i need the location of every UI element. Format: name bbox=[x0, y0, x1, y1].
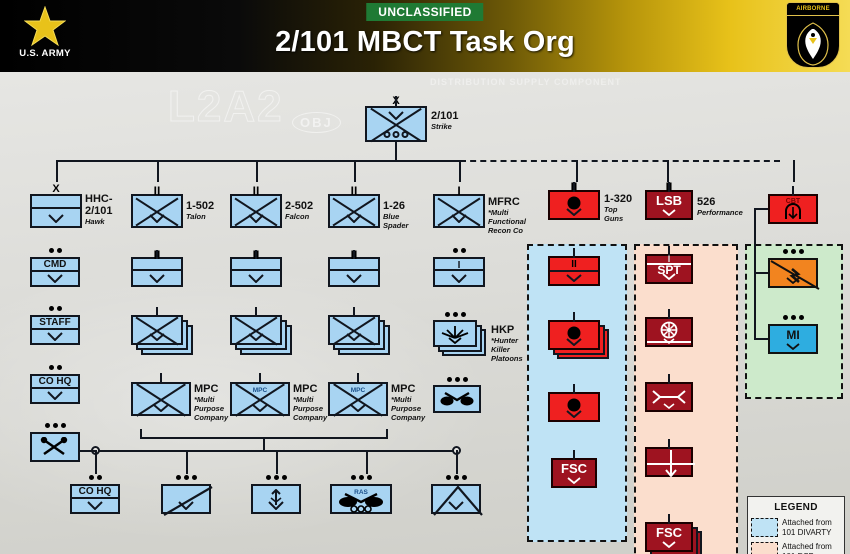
unit-mpc-1[interactable]: MPC *Multi Purpose Company bbox=[131, 382, 191, 416]
legend-item-dsb: Attached from 101 DSB bbox=[751, 542, 844, 554]
unit-rifle-companies-1-502[interactable] bbox=[131, 315, 183, 345]
attachment-hook bbox=[754, 208, 768, 210]
unit-nickname: Performance bbox=[697, 208, 743, 217]
hq-bar bbox=[330, 269, 378, 271]
unit-nickname: Blue Spader bbox=[383, 212, 408, 230]
unit-hhc-2-502[interactable]: II bbox=[230, 257, 282, 287]
unit-rifle-companies-2-502[interactable] bbox=[230, 315, 282, 345]
stem bbox=[353, 250, 355, 259]
unit-name: 1-26 bbox=[383, 200, 408, 212]
unit-name: 526 bbox=[697, 196, 743, 208]
chevron-icon bbox=[346, 214, 362, 223]
slide-header: U.S. ARMY UNCLASSIFIED 2/101 MBCT Task O… bbox=[0, 0, 850, 72]
legend-text: Attached from 101 DSB bbox=[782, 542, 832, 554]
unit-name: 1-320 bbox=[604, 193, 632, 205]
echelon-mark: II bbox=[351, 187, 358, 196]
cbt-engineer-symbol[interactable]: CBT bbox=[768, 194, 818, 224]
drop-line bbox=[95, 450, 97, 474]
stem bbox=[353, 307, 355, 317]
air-assault-dots bbox=[384, 131, 409, 138]
stem bbox=[156, 250, 158, 259]
unit-label-text: FSC bbox=[647, 526, 691, 539]
legend-item-divarty: Attached from 101 DIVARTY bbox=[751, 518, 844, 537]
unit-nickname: Strike bbox=[431, 122, 459, 131]
chevron-icon bbox=[47, 332, 63, 341]
echelon-platoon-dots bbox=[32, 365, 78, 370]
mfrc-symbol[interactable]: I bbox=[433, 194, 485, 228]
unit-label-text: CO HQ bbox=[72, 485, 118, 498]
mpc-symbol[interactable] bbox=[131, 382, 191, 416]
infantry-battalion-symbol[interactable]: II bbox=[328, 194, 380, 228]
co-hq-symbol[interactable]: CO HQ bbox=[70, 484, 120, 514]
chevron-icon bbox=[153, 404, 169, 412]
drop-line bbox=[276, 450, 278, 474]
attachment-bus-dashed bbox=[460, 160, 780, 162]
infantry-company-symbol[interactable] bbox=[131, 315, 183, 345]
unit-spt-company[interactable]: I SPT bbox=[645, 254, 693, 284]
stem bbox=[395, 96, 397, 106]
chevron-icon bbox=[350, 404, 366, 412]
chevron-icon bbox=[149, 274, 165, 283]
unit-divarty-battery[interactable] bbox=[548, 392, 600, 422]
unit-bottom-ras[interactable]: RAS bbox=[330, 484, 392, 514]
transportation-symbol[interactable] bbox=[645, 317, 693, 347]
unit-name: MFRC bbox=[488, 196, 530, 208]
chevron-icon bbox=[87, 501, 103, 510]
stem bbox=[573, 182, 575, 192]
unit-label: HHC- 2/101 Hawk bbox=[85, 193, 113, 226]
unit-nickname: Hawk bbox=[85, 217, 113, 226]
stem bbox=[255, 250, 257, 259]
stem bbox=[573, 312, 575, 322]
airborne-tab: AIRBORNE bbox=[787, 3, 839, 16]
unit-name-line1: HHC- bbox=[85, 193, 113, 205]
cmd-symbol[interactable]: CMD bbox=[30, 257, 80, 287]
unit-hhc-1-26[interactable]: II bbox=[328, 257, 380, 287]
chevron-icon bbox=[566, 410, 582, 418]
unit-label: 526 Performance bbox=[697, 196, 743, 217]
unit-mfrc-hq[interactable]: I bbox=[433, 257, 485, 287]
chevron-icon bbox=[47, 274, 63, 283]
watermark-l2a2: L2A2 bbox=[168, 82, 284, 132]
unit-nickname: Top Guns bbox=[604, 205, 632, 223]
classification-banner: UNCLASSIFIED bbox=[366, 3, 483, 21]
unit-hhc-2-101[interactable]: X HHC- 2/101 Hawk bbox=[30, 194, 82, 228]
hq-bar bbox=[232, 269, 280, 271]
echelon-company-dots bbox=[770, 315, 816, 320]
unit-bottom-co-hq[interactable]: CO HQ bbox=[70, 484, 120, 514]
drop-line bbox=[157, 160, 159, 182]
unit-nickname: *Multi Functional Recon Co bbox=[488, 208, 530, 235]
chevron-icon bbox=[566, 274, 582, 282]
drop-line bbox=[459, 160, 461, 182]
echelon-company-dots bbox=[435, 312, 475, 317]
div-attachment-rail bbox=[754, 208, 756, 340]
unit-nickname: *Multi Purpose Company bbox=[391, 395, 435, 422]
ras-symbol[interactable]: RAS bbox=[330, 484, 392, 514]
unit-transportation-company[interactable] bbox=[645, 317, 693, 347]
drop-line bbox=[354, 160, 356, 182]
mi-symbol[interactable]: MI bbox=[768, 324, 818, 354]
stem bbox=[573, 384, 575, 394]
infantry-battalion-symbol[interactable]: II bbox=[230, 194, 282, 228]
battalion-bus bbox=[56, 160, 460, 162]
mpc-symbol[interactable]: MPC bbox=[230, 382, 290, 416]
echelon-company-dots bbox=[332, 475, 390, 480]
hq-bar bbox=[550, 270, 598, 272]
echelon-mark: II bbox=[253, 187, 260, 196]
stem bbox=[255, 307, 257, 317]
echelon-company-dots bbox=[163, 475, 209, 480]
staff-symbol[interactable]: STAFF bbox=[30, 315, 80, 345]
unit-name: 1-502 bbox=[186, 200, 214, 212]
chevron-icon bbox=[662, 273, 676, 280]
unit-label-text: STAFF bbox=[32, 316, 78, 329]
chevron-icon bbox=[252, 404, 268, 412]
echelon-platoon-dots bbox=[32, 306, 78, 311]
artillery-battery-symbol[interactable] bbox=[548, 320, 600, 350]
uav-symbol[interactable] bbox=[433, 385, 481, 413]
stem bbox=[668, 309, 670, 319]
unit-label: 2/101 Strike bbox=[431, 110, 459, 131]
chevron-icon bbox=[248, 214, 264, 223]
unit-co-hq-left[interactable]: CO HQ bbox=[30, 374, 80, 404]
unit-label: 1-320 Top Guns bbox=[604, 193, 632, 223]
signal-company-symbol[interactable] bbox=[768, 258, 818, 288]
101st-airborne-patch: AIRBORNE bbox=[786, 2, 840, 68]
unit-name-line2: 2/101 bbox=[85, 205, 113, 217]
chevron-icon bbox=[662, 541, 676, 548]
attachment-hook bbox=[754, 272, 768, 274]
legend-line2: 101 DIVARTY bbox=[782, 528, 832, 538]
hq-bar bbox=[133, 269, 181, 271]
artillery-battalion-symbol[interactable]: II bbox=[548, 190, 600, 220]
mpc-inner-label: MPC bbox=[232, 384, 288, 397]
unit-1-26[interactable]: II 1-26 Blue Spader bbox=[328, 194, 380, 228]
unit-nickname: Talon bbox=[186, 212, 214, 221]
signal-lightning-icon bbox=[770, 260, 820, 290]
mpc-inner-label: MPC bbox=[330, 384, 386, 397]
hq-platoon-symbol[interactable]: I bbox=[433, 257, 485, 287]
unit-hkp[interactable]: HKP *Hunter Killer Platoons bbox=[433, 320, 477, 347]
drop-line bbox=[186, 450, 188, 474]
chevron-icon bbox=[662, 209, 676, 216]
unit-name: MPC bbox=[391, 383, 435, 395]
unit-1-320-top-guns[interactable]: II 1-320 Top Guns bbox=[548, 190, 600, 220]
diagram-canvas: L2A2 OBJ DISTRIBUTION SUPPLY COMPONENT X bbox=[0, 72, 850, 554]
legend-title: LEGEND bbox=[748, 502, 844, 513]
chevron-icon bbox=[248, 274, 264, 283]
legend-line1: Attached from bbox=[782, 542, 832, 552]
hunter-killer-icon bbox=[438, 324, 472, 344]
unit-name: 2-502 bbox=[285, 200, 313, 212]
echelon-company-dots bbox=[770, 249, 816, 254]
page-title: 2/101 MBCT Task Org bbox=[0, 26, 850, 59]
unit-hhc-1-502[interactable]: II bbox=[131, 257, 183, 287]
signal-symbol[interactable] bbox=[30, 432, 80, 462]
chevron-icon bbox=[47, 391, 63, 400]
chevron-icon bbox=[149, 333, 165, 341]
stem bbox=[156, 307, 158, 317]
chevron-icon bbox=[451, 274, 467, 283]
hhc-symbol[interactable]: II bbox=[131, 257, 183, 287]
stem bbox=[668, 439, 670, 449]
unit-cmd[interactable]: CMD bbox=[30, 257, 80, 287]
echelon-mark: II bbox=[571, 260, 577, 269]
unit-mfrc[interactable]: I MFRC *Multi Functional Recon Co bbox=[433, 194, 485, 228]
engineer-symbol[interactable] bbox=[431, 484, 481, 514]
unit-bottom-air-defense[interactable] bbox=[251, 484, 301, 514]
legend-line1: Attached from bbox=[782, 518, 832, 528]
chevron-icon bbox=[448, 501, 464, 510]
air-defense-symbol[interactable] bbox=[251, 484, 301, 514]
echelon-platoon-dots bbox=[435, 248, 483, 253]
drop-line bbox=[56, 160, 58, 182]
unit-signal-company[interactable] bbox=[30, 432, 80, 462]
unit-maintenance-company[interactable] bbox=[645, 382, 693, 412]
attachment-hook bbox=[754, 338, 768, 340]
signal-icon bbox=[40, 437, 70, 457]
fsc-symbol[interactable]: FSC bbox=[551, 458, 597, 488]
unit-label-text: CO HQ bbox=[32, 375, 78, 388]
chevron-icon bbox=[663, 403, 675, 409]
chevron-icon bbox=[566, 338, 582, 346]
unit-label-text: CMD bbox=[32, 258, 78, 271]
unit-divarty-fsc[interactable]: FSC bbox=[551, 458, 597, 488]
stem bbox=[357, 373, 359, 384]
watermark-background: DISTRIBUTION SUPPLY COMPONENT bbox=[430, 77, 622, 87]
infantry-company-symbol[interactable] bbox=[328, 315, 380, 345]
echelon-mark: I bbox=[458, 261, 461, 270]
chevron-icon bbox=[567, 477, 581, 484]
echelon-company-dots bbox=[435, 377, 479, 382]
unit-div-cbt-engineer[interactable]: CBT bbox=[768, 194, 818, 224]
unit-dsb-fsc[interactable]: FSC bbox=[645, 522, 693, 552]
hhc-symbol[interactable]: II bbox=[230, 257, 282, 287]
stem bbox=[573, 450, 575, 460]
unit-staff[interactable]: STAFF bbox=[30, 315, 80, 345]
trunk-line bbox=[395, 142, 397, 160]
unit-div-signal[interactable] bbox=[768, 258, 818, 288]
echelon-company-dots bbox=[253, 475, 299, 480]
unit-divarty-firing-batteries[interactable] bbox=[548, 320, 600, 350]
legend-swatch-dsb bbox=[751, 542, 778, 554]
chevron-icon bbox=[268, 501, 284, 510]
legend-text: Attached from 101 DIVARTY bbox=[782, 518, 832, 537]
unit-nickname: Falcon bbox=[285, 212, 313, 221]
unit-lsb-526[interactable]: II LSB 526 Performance bbox=[645, 190, 693, 220]
stem bbox=[160, 373, 162, 384]
unit-nickname: *Hunter Killer Platoons bbox=[491, 336, 537, 363]
mpc-grouping-bracket bbox=[140, 429, 388, 439]
legend-swatch-divarty bbox=[751, 518, 778, 537]
medical-icon bbox=[647, 449, 695, 479]
chevron-icon bbox=[149, 214, 165, 223]
chevron-icon bbox=[178, 501, 194, 510]
unit-divarty-hhb[interactable]: II bbox=[548, 256, 600, 286]
echelon-mark: X bbox=[52, 184, 59, 195]
unit-label: 1-26 Blue Spader bbox=[383, 200, 408, 230]
chevron-icon bbox=[451, 214, 467, 223]
spt-symbol[interactable]: I SPT bbox=[645, 254, 693, 284]
hhb-symbol[interactable]: II bbox=[548, 256, 600, 286]
screaming-eagle-icon bbox=[790, 19, 836, 67]
unit-bottom-recon[interactable] bbox=[161, 484, 211, 514]
unit-mpc-2[interactable]: MPC MPC *Multi Purpose Company bbox=[230, 382, 290, 416]
chevron-icon bbox=[388, 111, 404, 120]
hhc-symbol[interactable]: II bbox=[328, 257, 380, 287]
maintenance-symbol[interactable] bbox=[645, 382, 693, 412]
chevron-icon bbox=[566, 208, 582, 216]
fsc-symbol[interactable]: FSC bbox=[645, 522, 693, 552]
unit-label: HKP *Hunter Killer Platoons bbox=[491, 324, 537, 363]
hkp-symbol[interactable] bbox=[433, 320, 477, 347]
echelon-mark: I bbox=[457, 187, 460, 196]
infantry-battalion-symbol[interactable]: II bbox=[131, 194, 183, 228]
unit-1-502[interactable]: II 1-502 Talon bbox=[131, 194, 183, 228]
medical-symbol[interactable] bbox=[645, 447, 693, 477]
transportation-icon bbox=[660, 321, 678, 339]
mpc-symbol[interactable]: MPC bbox=[328, 382, 388, 416]
artillery-battery-symbol[interactable] bbox=[548, 392, 600, 422]
chevron-icon bbox=[48, 214, 64, 223]
drop-line-divarty bbox=[576, 160, 578, 182]
recon-symbol[interactable] bbox=[161, 484, 211, 514]
echelon-company-dots bbox=[32, 423, 78, 428]
uav-icon bbox=[439, 390, 475, 408]
chevron-icon bbox=[346, 333, 362, 341]
unit-label-text: LSB bbox=[647, 194, 691, 207]
echelon-platoon-dots bbox=[32, 248, 78, 253]
engineer-bridge-icon bbox=[783, 203, 803, 223]
chevron-icon bbox=[663, 338, 675, 344]
unit-label: 1-502 Talon bbox=[186, 200, 214, 221]
unit-label: MPC *Multi Purpose Company bbox=[391, 383, 435, 422]
drop-line-dsb bbox=[667, 160, 669, 182]
infantry-company-symbol[interactable] bbox=[230, 315, 282, 345]
unit-div-mi[interactable]: MI bbox=[768, 324, 818, 354]
drop-line bbox=[256, 160, 258, 182]
unit-uav[interactable] bbox=[433, 385, 481, 413]
aviation-icon bbox=[337, 493, 385, 513]
stem bbox=[668, 514, 670, 524]
hhc-symbol[interactable]: X bbox=[30, 194, 82, 228]
drop-line-div bbox=[793, 160, 795, 182]
unit-name: HKP bbox=[491, 324, 537, 336]
chevron-icon bbox=[786, 277, 800, 284]
unit-2-502[interactable]: II 2-502 Falcon bbox=[230, 194, 282, 228]
stem bbox=[668, 182, 670, 192]
unit-label: 2-502 Falcon bbox=[285, 200, 313, 221]
drop-line bbox=[366, 450, 368, 474]
co-hq-symbol[interactable]: CO HQ bbox=[30, 374, 80, 404]
chevron-icon bbox=[786, 343, 800, 350]
brigade-symbol[interactable]: X bbox=[365, 106, 427, 142]
chevron-icon bbox=[346, 274, 362, 283]
bracket-stem bbox=[263, 439, 265, 450]
unit-rifle-companies-1-26[interactable] bbox=[328, 315, 380, 345]
chevron-icon bbox=[248, 333, 264, 341]
stem bbox=[668, 374, 670, 384]
unit-label-text: MI bbox=[770, 329, 816, 342]
hq-bar bbox=[32, 207, 80, 209]
watermark-obj: OBJ bbox=[292, 112, 341, 133]
unit-label-text: FSC bbox=[553, 462, 595, 475]
unit-bottom-engineer[interactable] bbox=[431, 484, 481, 514]
stem bbox=[259, 373, 261, 384]
echelon-company-dots bbox=[433, 475, 479, 480]
signal-link bbox=[80, 450, 95, 452]
legend: LEGEND Attached from 101 DIVARTY Attache… bbox=[747, 496, 845, 554]
echelon-mark: II bbox=[154, 187, 161, 196]
unit-medical-company[interactable] bbox=[645, 447, 693, 477]
unit-2-101-strike[interactable]: X 2/101 Strike bbox=[365, 106, 427, 142]
unit-name: 2/101 bbox=[431, 110, 459, 122]
lsb-symbol[interactable]: II LSB bbox=[645, 190, 693, 220]
unit-mpc-3[interactable]: MPC MPC *Multi Purpose Company bbox=[328, 382, 388, 416]
drop-line bbox=[456, 450, 458, 474]
task-org-slide: U.S. ARMY UNCLASSIFIED 2/101 MBCT Task O… bbox=[0, 0, 850, 554]
echelon-platoon-dots bbox=[72, 475, 118, 480]
stem bbox=[573, 248, 575, 258]
unit-label: MFRC *Multi Functional Recon Co bbox=[488, 196, 530, 235]
